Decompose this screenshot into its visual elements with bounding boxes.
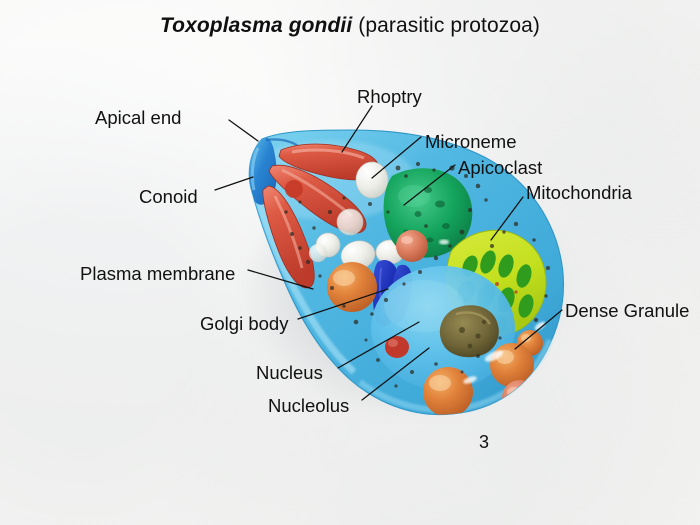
label-golgi-body: Golgi body xyxy=(200,315,288,334)
label-conoid: Conoid xyxy=(139,188,198,207)
organelle-nucleolus xyxy=(440,305,499,357)
dense-granule xyxy=(285,180,303,198)
microneme xyxy=(337,209,363,235)
figure-canvas: Toxoplasma gondii (parasitic protozoa) xyxy=(0,0,700,525)
label-mitochondria: Mitochondria xyxy=(526,184,632,203)
conoid-leader xyxy=(215,177,253,190)
label-apicoclast: Apicoclast xyxy=(458,159,542,178)
label-nucleolus: Nucleolus xyxy=(268,397,349,416)
label-microneme: Microneme xyxy=(425,133,517,152)
label-nucleus: Nucleus xyxy=(256,364,323,383)
dense-granule xyxy=(423,367,473,417)
dense-granule xyxy=(396,230,428,262)
dense-granule xyxy=(502,380,538,416)
microneme xyxy=(309,244,327,262)
apical-end-leader xyxy=(229,120,258,141)
label-dense-granule: Dense Granule xyxy=(565,302,689,321)
label-plasma-membrane: Plasma membrane xyxy=(80,265,235,284)
microneme xyxy=(356,162,388,198)
label-apical-end: Apical end xyxy=(95,109,181,128)
dense-granule xyxy=(327,262,377,312)
figure-number: 3 xyxy=(479,432,489,453)
label-rhoptry: Rhoptry xyxy=(357,88,422,107)
